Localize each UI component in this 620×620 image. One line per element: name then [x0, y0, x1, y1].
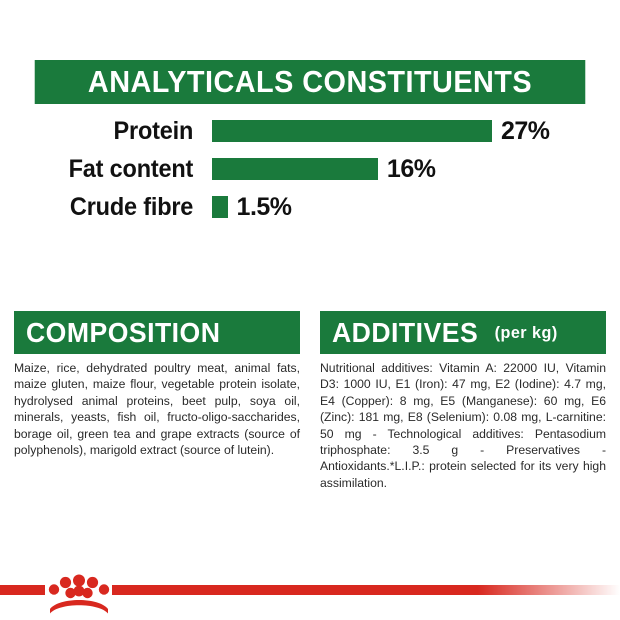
bar-label-protein: Protein: [26, 117, 212, 146]
additives-section: ADDITIVES (per kg) Nutritional additives…: [320, 311, 606, 491]
additives-title: ADDITIVES: [332, 317, 478, 349]
bar-track-fat-content: 16%: [212, 155, 435, 184]
bar-fill-fat-content: [212, 158, 378, 180]
bar-value-crude-fibre: 1.5%: [237, 193, 292, 222]
bar-value-fat-content: 16%: [387, 155, 436, 184]
additives-body: Nutritional additives: Vitamin A: 22000 …: [320, 360, 606, 491]
bar-row-fat-content: Fat content 16%: [14, 153, 606, 185]
footer-brand-bar: [0, 574, 620, 620]
bar-track-crude-fibre: 1.5%: [212, 193, 292, 222]
analytical-constituents-section: ANALYTICALS CONSTITUENTS Protein 27% Fat…: [14, 60, 606, 229]
footer-rule-left: [0, 585, 45, 595]
bar-row-protein: Protein 27%: [14, 115, 606, 147]
bar-row-crude-fibre: Crude fibre 1.5%: [14, 191, 606, 223]
additives-title-banner: ADDITIVES (per kg): [320, 311, 606, 354]
constituents-bar-chart: Protein 27% Fat content 16% Crude fibre …: [14, 115, 606, 223]
composition-title-banner: COMPOSITION: [14, 311, 300, 354]
composition-title: COMPOSITION: [26, 317, 220, 349]
bar-label-fat-content: Fat content: [26, 155, 212, 184]
bar-value-protein: 27%: [501, 117, 550, 146]
product-nutrition-panel: ANALYTICALS CONSTITUENTS Protein 27% Fat…: [0, 0, 620, 620]
bar-fill-crude-fibre: [212, 196, 228, 218]
composition-section: COMPOSITION Maize, rice, dehydrated poul…: [14, 311, 300, 491]
royal-canin-crown-icon: [45, 574, 113, 616]
composition-body: Maize, rice, dehydrated poultry meat, an…: [14, 360, 300, 458]
bar-label-crude-fibre: Crude fibre: [26, 193, 212, 222]
additives-unit-label: (per kg): [495, 323, 558, 343]
info-columns: COMPOSITION Maize, rice, dehydrated poul…: [14, 311, 606, 491]
bar-track-protein: 27%: [212, 117, 550, 146]
bar-fill-protein: [212, 120, 492, 142]
analytical-constituents-title: ANALYTICALS CONSTITUENTS: [35, 60, 586, 104]
footer-rule-right: [112, 585, 620, 595]
